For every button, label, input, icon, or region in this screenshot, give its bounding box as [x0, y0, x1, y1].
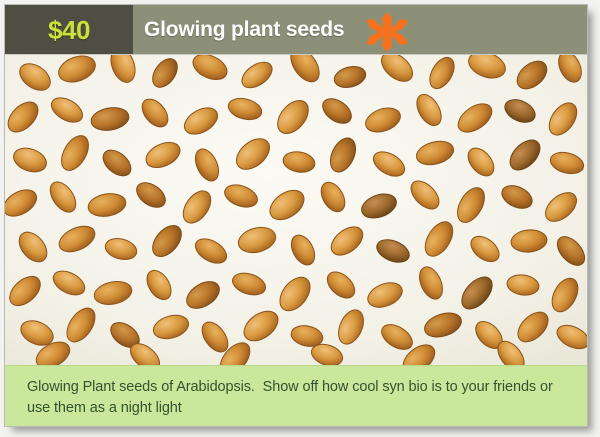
card-header-bar: $40 Glowing plant seeds	[5, 5, 588, 55]
page-title: Glowing plant seeds	[144, 5, 344, 54]
product-card-frame: $40 Glowing plant seeds	[4, 4, 588, 427]
price-badge: $40	[5, 5, 133, 54]
product-card: $40 Glowing plant seeds	[0, 0, 600, 437]
caption-text: Glowing Plant seeds of Arabidopsis. Show…	[27, 377, 567, 419]
arabidopsis-seeds-photo	[5, 55, 588, 365]
caption-box: Glowing Plant seeds of Arabidopsis. Show…	[5, 365, 588, 427]
price-label: $40	[48, 17, 90, 43]
asterisk-icon	[363, 10, 411, 54]
